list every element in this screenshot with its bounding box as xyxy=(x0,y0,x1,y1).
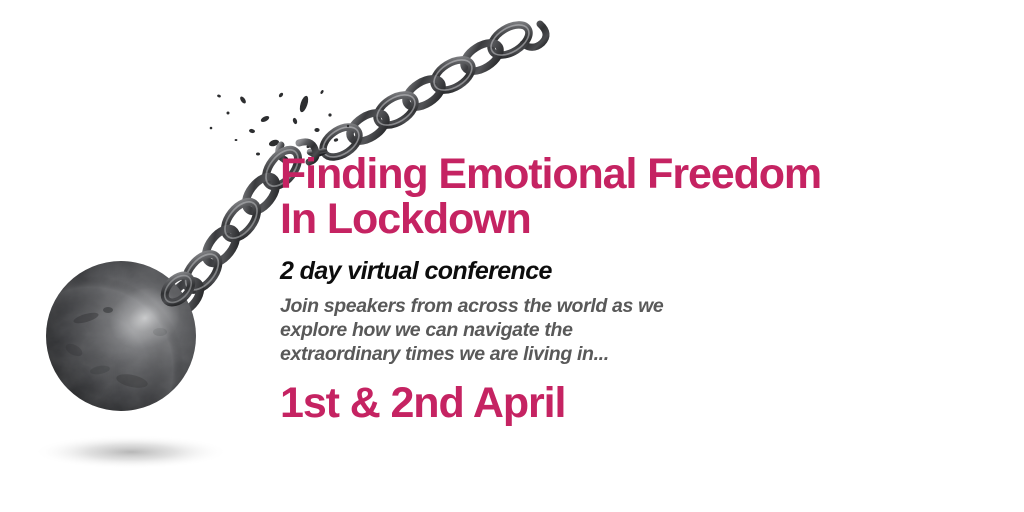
event-subtitle: 2 day virtual conference xyxy=(280,258,920,285)
debris-field xyxy=(210,90,349,156)
event-description: Join speakers from across the world as w… xyxy=(280,294,920,366)
upper-chain-segment xyxy=(318,19,546,163)
wrecking-ball xyxy=(46,261,196,411)
ball-attachment-ring xyxy=(160,271,197,308)
event-dates: 1st & 2nd April xyxy=(280,380,920,426)
page-title: Finding Emotional Freedom In Lockdown xyxy=(280,152,920,242)
ball-attachment-ring-highlight xyxy=(160,271,197,308)
upper-chain-highlight xyxy=(318,19,534,163)
poster-canvas: Finding Emotional Freedom In Lockdown 2 … xyxy=(0,0,1024,512)
poster-text-block: Finding Emotional Freedom In Lockdown 2 … xyxy=(280,152,920,426)
ball-drop-shadow xyxy=(33,435,229,469)
